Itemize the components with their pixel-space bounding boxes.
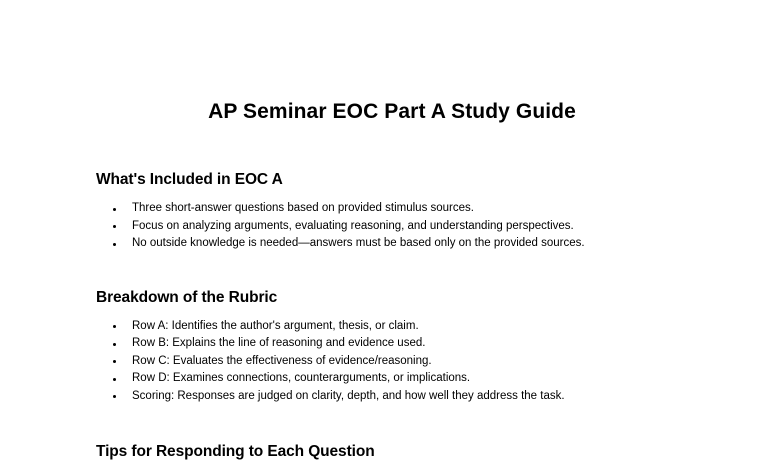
list-item: Scoring: Responses are judged on clarity… (96, 388, 688, 406)
list-item: Three short-answer questions based on pr… (96, 200, 688, 218)
section-heading: Tips for Responding to Each Question (96, 443, 688, 461)
document-page: AP Seminar EOC Part A Study Guide What's… (0, 0, 784, 441)
list-item: Row C: Evaluates the effectiveness of ev… (96, 353, 688, 371)
list-item: Row A: Identifies the author's argument,… (96, 318, 688, 336)
section-rubric-breakdown: Breakdown of the Rubric Row A: Identifie… (96, 253, 688, 406)
section-tips: Tips for Responding to Each Question (96, 405, 688, 461)
section-heading: What's Included in EOC A (96, 171, 688, 189)
bullet-list: Row A: Identifies the author's argument,… (96, 307, 688, 406)
list-item: Row D: Examines connections, counterargu… (96, 370, 688, 388)
list-item: No outside knowledge is needed—answers m… (96, 235, 688, 253)
section-heading: Breakdown of the Rubric (96, 289, 688, 307)
page-title: AP Seminar EOC Part A Study Guide (96, 0, 688, 124)
bullet-list: Three short-answer questions based on pr… (96, 189, 688, 253)
list-item: Focus on analyzing arguments, evaluating… (96, 218, 688, 236)
list-item: Row B: Explains the line of reasoning an… (96, 335, 688, 353)
section-whats-included: What's Included in EOC A Three short-ans… (96, 124, 688, 253)
